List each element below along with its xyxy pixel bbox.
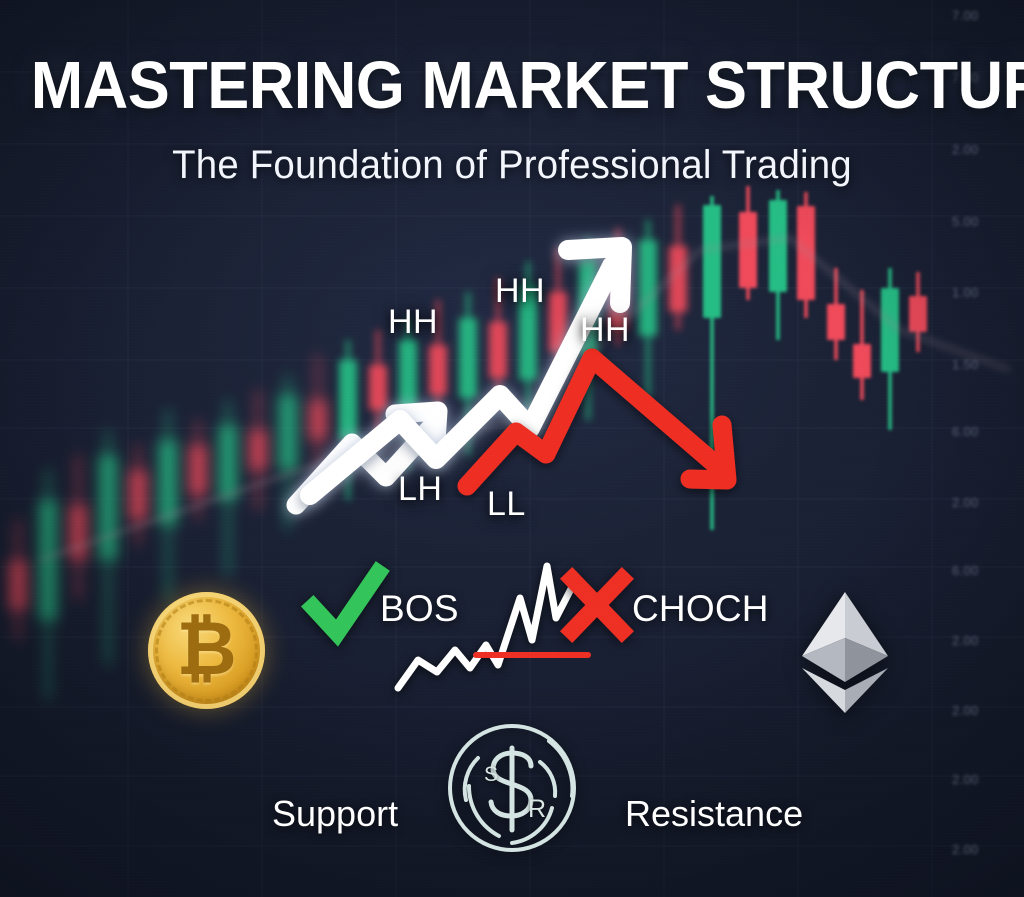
poster-canvas: 7.007.002.005.001.001.506.002.006.002.00… (0, 0, 1024, 897)
noise-overlay (0, 0, 1024, 897)
